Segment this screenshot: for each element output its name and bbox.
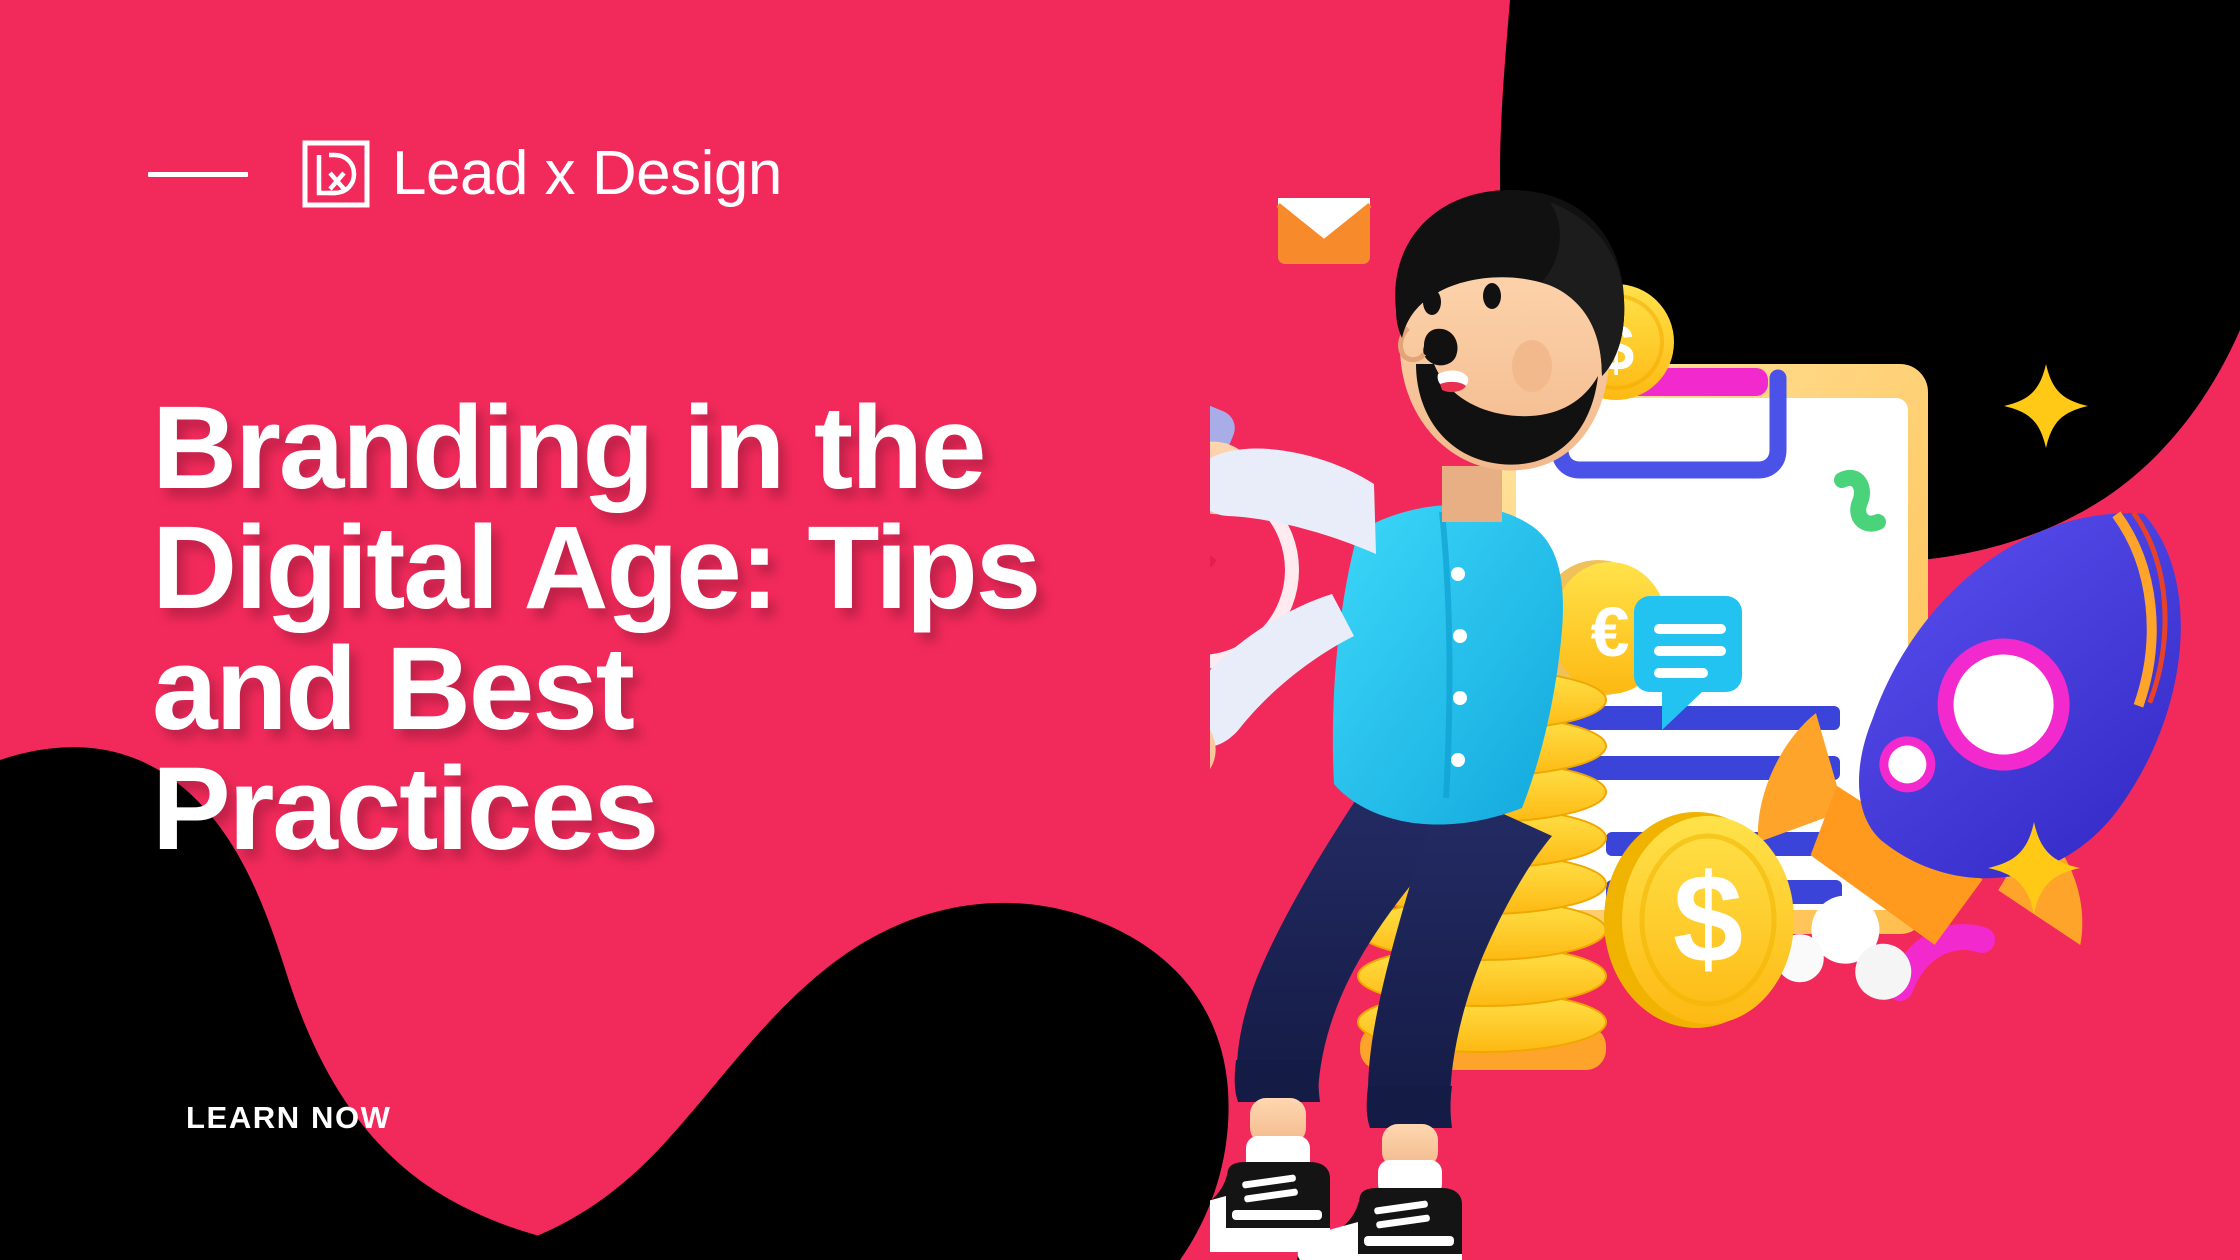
dollar-coin-large: $ — [1604, 812, 1794, 1028]
brand-header: Lead x Design — [148, 140, 782, 208]
headline: Branding in the Digital Age: Tips and Be… — [152, 388, 1282, 869]
svg-text:€: € — [1591, 593, 1630, 671]
brand-name: Lead x Design — [392, 143, 782, 205]
lead-x-design-logo-icon — [302, 140, 370, 208]
headline-line-4: Practices — [152, 749, 1282, 869]
envelope-icon — [1278, 198, 1370, 264]
headline-line-1: Branding in the — [152, 388, 1282, 508]
learn-now-cta[interactable]: LEARN NOW — [186, 1100, 578, 1136]
cta-label: LEARN NOW — [186, 1100, 392, 1136]
svg-text:$: $ — [1673, 848, 1743, 989]
sparkle-star-top — [2004, 364, 2088, 448]
promo-banner: Lead x Design Branding in the Digital Ag… — [0, 0, 2240, 1260]
arrow-right-icon — [448, 1105, 578, 1131]
headline-line-3: and Best — [152, 629, 1282, 749]
brand-rule — [148, 172, 248, 177]
headline-line-2: Digital Age: Tips — [152, 508, 1282, 628]
magenta-squiggle — [1900, 937, 1982, 988]
illustration-3d-marketing-scene: $ € — [1210, 150, 2240, 1260]
